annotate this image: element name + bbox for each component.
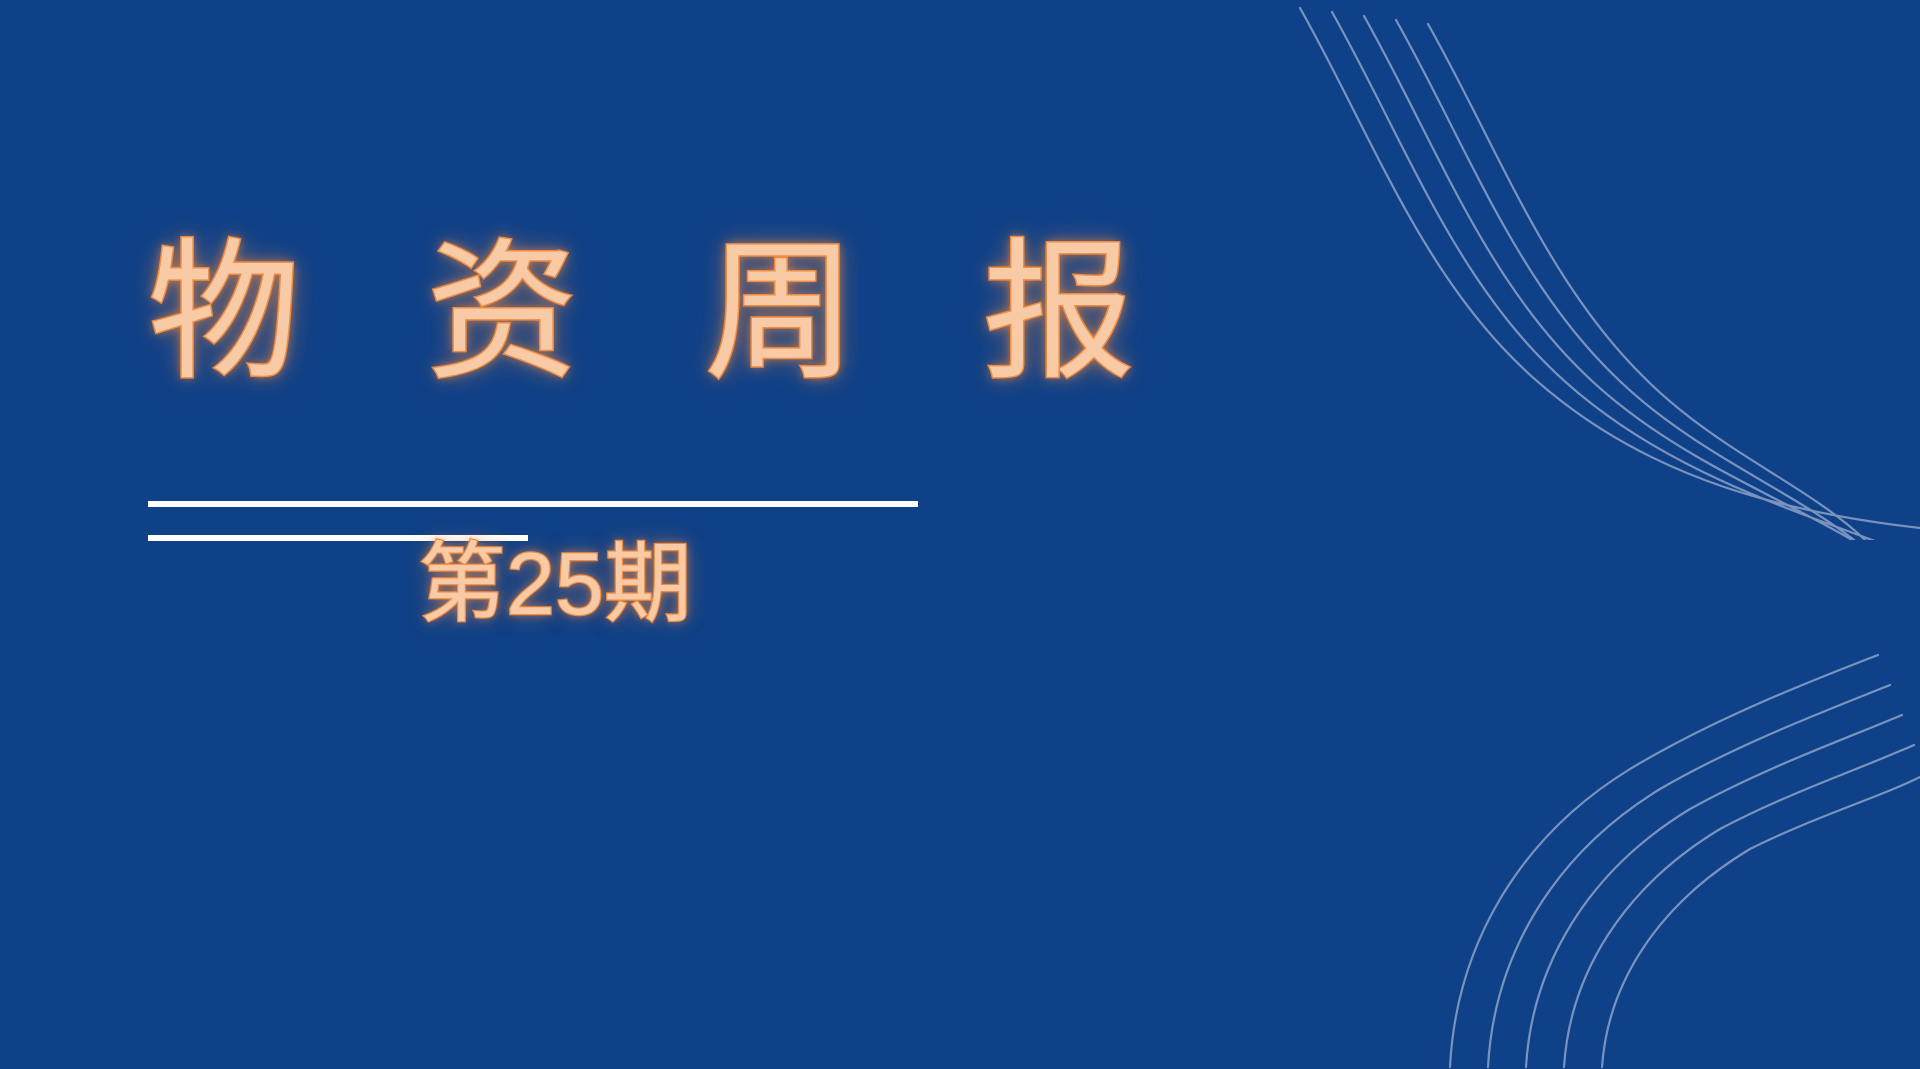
issue-subtitle: 第25期 xyxy=(418,536,692,633)
page-title: 物 资 周 报 xyxy=(148,236,1068,391)
title-slide: 物 资 周 报 第25期 xyxy=(0,0,1920,1069)
title-block: 物 资 周 报 xyxy=(148,236,1068,391)
arc-lines-bottom-right-decoration xyxy=(1230,589,1920,1069)
title-underline-long xyxy=(148,501,918,507)
wave-lines-top-right-decoration xyxy=(1260,0,1920,540)
